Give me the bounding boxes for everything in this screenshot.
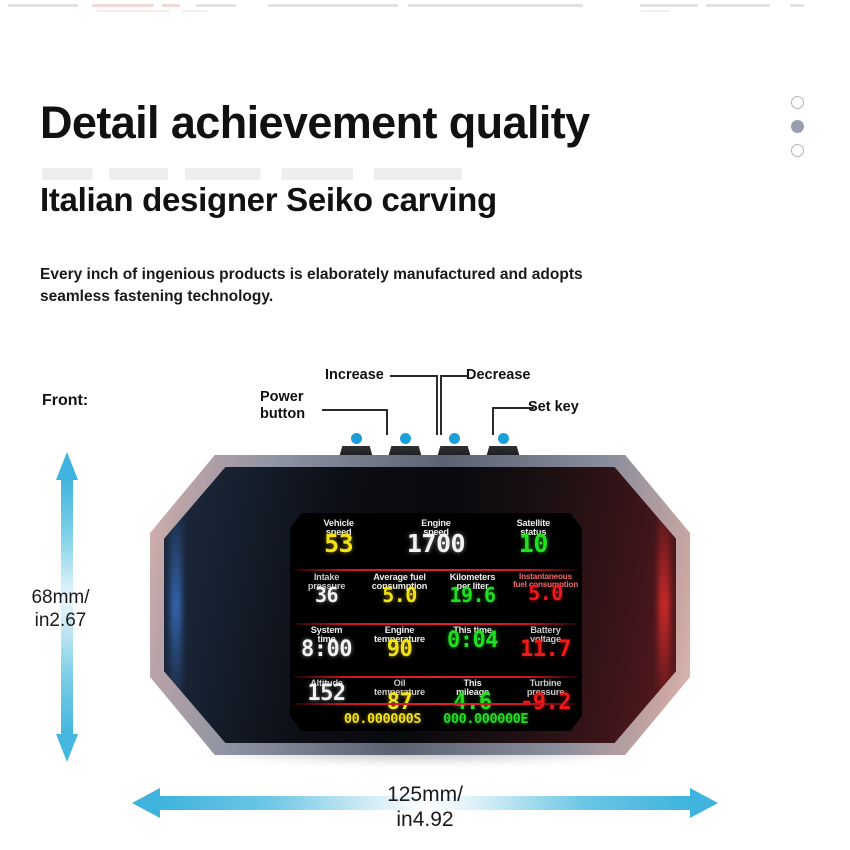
top-edge-artifacts	[0, 0, 850, 14]
cell-value: 8:00	[290, 640, 363, 659]
leader-line-increase-h	[390, 375, 438, 377]
cell-value: 53	[290, 533, 387, 555]
row-divider-4	[294, 703, 578, 705]
display-cell-altitude: Altitude 152	[290, 679, 363, 713]
view-label-front: Front:	[42, 392, 88, 410]
cell-value: 152	[290, 684, 363, 703]
cell-value: 10	[485, 533, 582, 555]
gps-longitude: 000.000000E	[443, 711, 528, 727]
cell-value: 0:04	[436, 631, 509, 650]
cell-value: 1700	[387, 533, 484, 555]
callout-set-key: Set key	[528, 399, 579, 416]
display-cell-engine-speed: Engine speed 1700	[387, 519, 484, 555]
page-subtitle: Italian designer Seiko carving	[40, 183, 497, 216]
display-row-4: Altitude 152 Oil temperature 87 This mil…	[290, 679, 582, 713]
display-cell-turbine-pressure: Turbine pressure -9.2	[509, 679, 582, 713]
display-cell-system-time: System time 8:00	[290, 626, 363, 660]
right-red-glow	[658, 501, 670, 709]
display-cell-satellite-status: Satellite status 10	[485, 519, 582, 555]
cell-value: 36	[290, 587, 363, 605]
display-cell-this-time: This time 0:04	[436, 626, 509, 660]
device-shell: Vehicle speed 53 Engine speed 1700 Satel…	[150, 455, 690, 755]
display-row-3: System time 8:00 Engine temperature 90 T…	[290, 626, 582, 660]
cell-value: 19.6	[436, 587, 509, 605]
pagination-dot-1[interactable]	[791, 96, 804, 109]
leader-line-power-h	[322, 409, 388, 411]
page-description: Every inch of ingenious products is elab…	[40, 264, 640, 308]
device-faceplate: Vehicle speed 53 Engine speed 1700 Satel…	[164, 467, 676, 743]
ghost-text-artifact	[42, 168, 462, 180]
display-row-2: Intake pressure 36 Average fuel consumpt…	[290, 573, 582, 605]
gps-coordinates-row: 00.000000S 000.000000E	[290, 711, 582, 727]
pagination-dot-3[interactable]	[791, 144, 804, 157]
arrow-head-up	[56, 452, 78, 480]
arrow-head-left	[132, 788, 160, 818]
leader-line-decrease-v	[440, 375, 442, 435]
display-row-1: Vehicle speed 53 Engine speed 1700 Satel…	[290, 519, 582, 555]
display-cell-kilometers-per-liter: Kilometers per liter 19.6	[436, 573, 509, 605]
callout-increase: Increase	[325, 367, 384, 384]
leader-line-power-v	[386, 409, 388, 435]
leader-line-setkey-v	[492, 407, 494, 435]
gps-latitude: 00.000000S	[344, 711, 421, 727]
leader-line-setkey-h	[492, 407, 534, 409]
width-dimension-label: 125mm/ in4.92	[310, 782, 540, 832]
pagination-dots[interactable]	[791, 96, 804, 157]
leader-line-decrease-h	[440, 375, 468, 377]
page-title: Detail achievement quality	[40, 100, 590, 145]
display-cell-battery-voltage: Battery voltage 11.7	[509, 626, 582, 660]
height-dimension-label: 68mm/ in2.67	[8, 586, 113, 632]
display-cell-average-fuel-consumption: Average fuel consumption 5.0	[363, 573, 436, 605]
hud-device: Vehicle speed 53 Engine speed 1700 Satel…	[150, 440, 690, 770]
row-divider-1	[294, 569, 578, 571]
product-infographic-page: Detail achievement quality Italian desig…	[0, 0, 850, 850]
display-cell-intake-pressure: Intake pressure 36	[290, 573, 363, 605]
pagination-dot-2-active[interactable]	[791, 120, 804, 133]
display-cell-oil-temperature: Oil temperature 87	[363, 679, 436, 713]
display-cell-engine-temperature: Engine temperature 90	[363, 626, 436, 660]
arrow-head-down	[56, 734, 78, 762]
callout-decrease: Decrease	[466, 367, 531, 384]
display-cell-instantaneous-fuel-consumption: Instantaneous fuel consumption 5.0	[509, 573, 582, 605]
left-blue-glow	[170, 501, 182, 709]
leader-line-increase-v	[436, 375, 438, 435]
callout-power-button: Power button	[260, 389, 305, 423]
lcd-screen: Vehicle speed 53 Engine speed 1700 Satel…	[290, 513, 582, 731]
display-cell-vehicle-speed: Vehicle speed 53	[290, 519, 387, 555]
display-cell-this-mileage: This mileage 4.6	[436, 679, 509, 713]
cell-value: 11.7	[509, 640, 582, 659]
arrow-head-right	[690, 788, 718, 818]
